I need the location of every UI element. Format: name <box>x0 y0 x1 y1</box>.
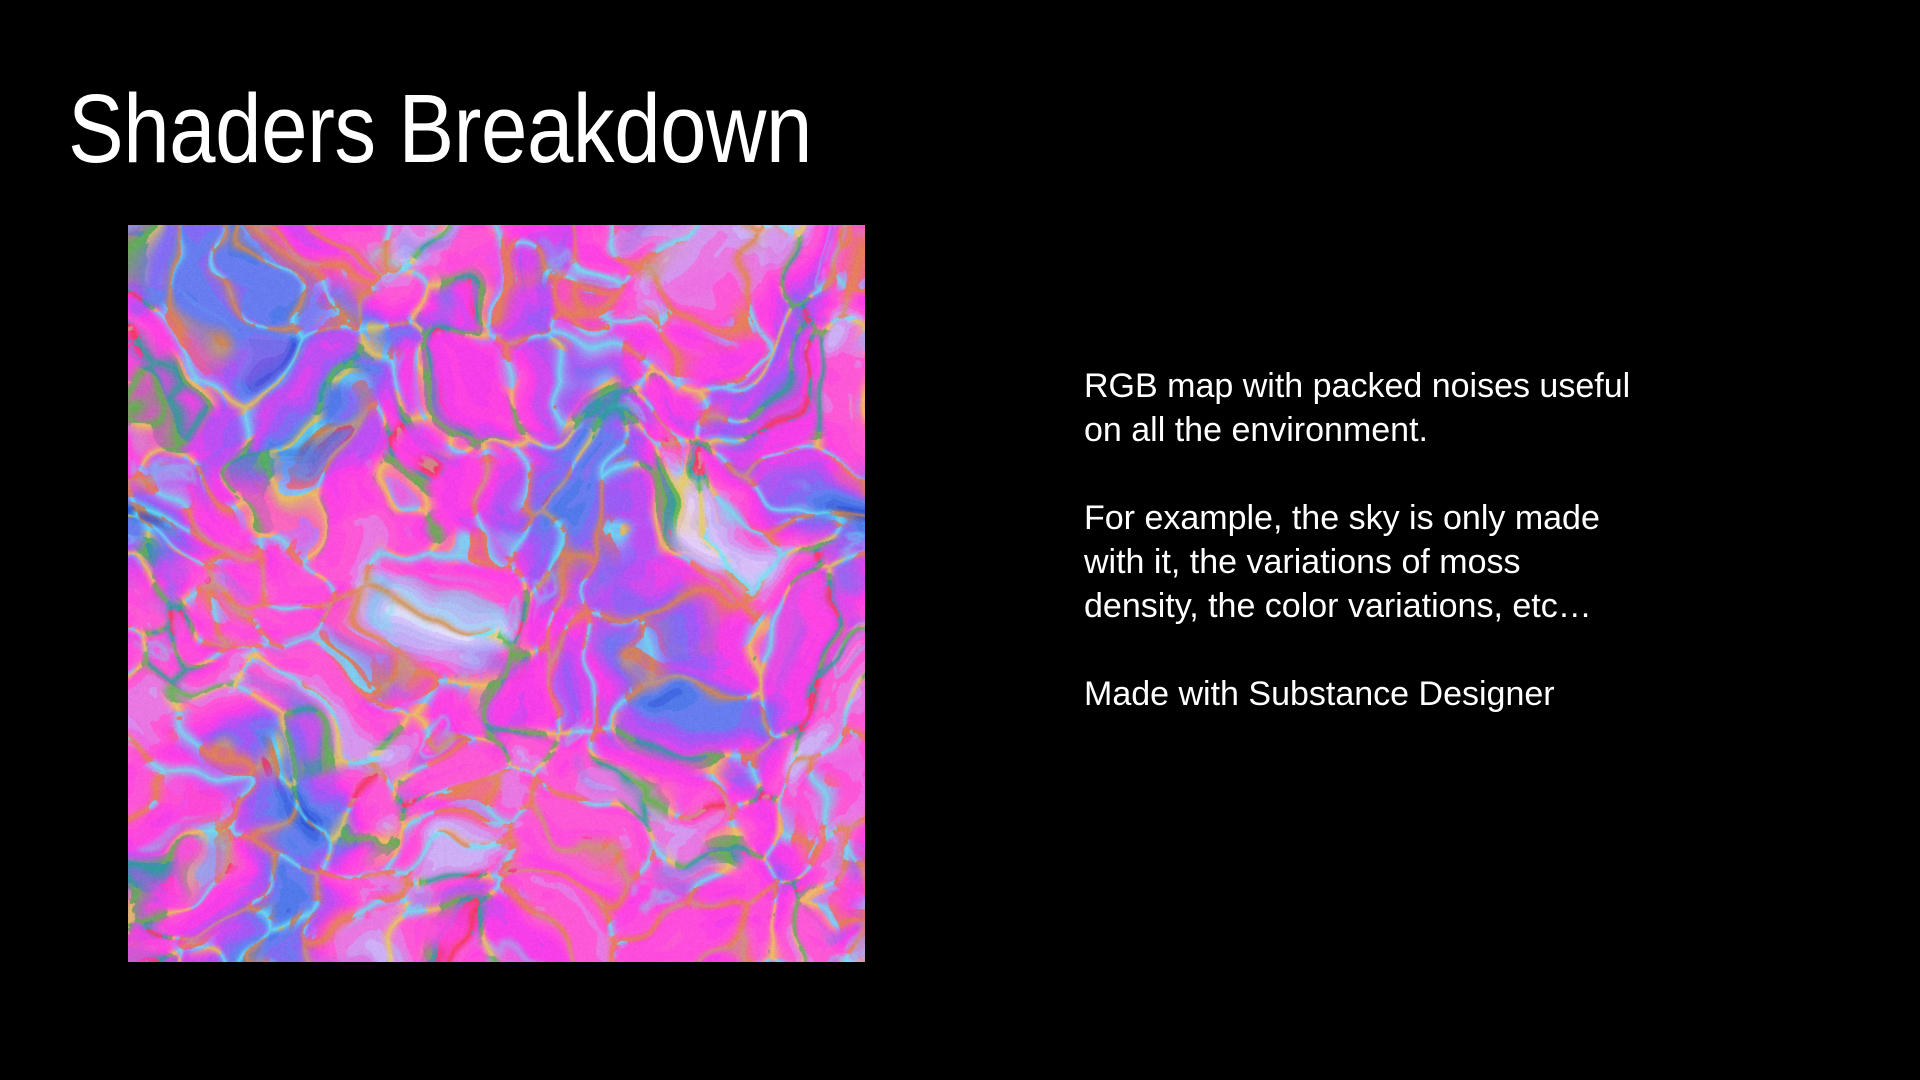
paragraph-3-line-1: Made with Substance Designer <box>1084 672 1724 716</box>
rgb-packed-noise-map-image <box>128 225 865 962</box>
paragraph-2-line-2: with it, the variations of moss <box>1084 540 1724 584</box>
paragraph-3: Made with Substance Designer <box>1084 672 1724 716</box>
description-text-block: RGB map with packed noises useful on all… <box>1084 364 1724 716</box>
page-title: Shaders Breakdown <box>68 78 812 180</box>
presentation-slide: Shaders Breakdown RGB map with packed no… <box>0 0 1920 1080</box>
paragraph-1-line-2: on all the environment. <box>1084 408 1724 452</box>
texture-image-frame <box>128 225 865 962</box>
paragraph-2-line-1: For example, the sky is only made <box>1084 496 1724 540</box>
paragraph-1-line-1: RGB map with packed noises useful <box>1084 364 1724 408</box>
paragraph-1: RGB map with packed noises useful on all… <box>1084 364 1724 452</box>
paragraph-2: For example, the sky is only made with i… <box>1084 496 1724 628</box>
paragraph-2-line-3: density, the color variations, etc… <box>1084 584 1724 628</box>
